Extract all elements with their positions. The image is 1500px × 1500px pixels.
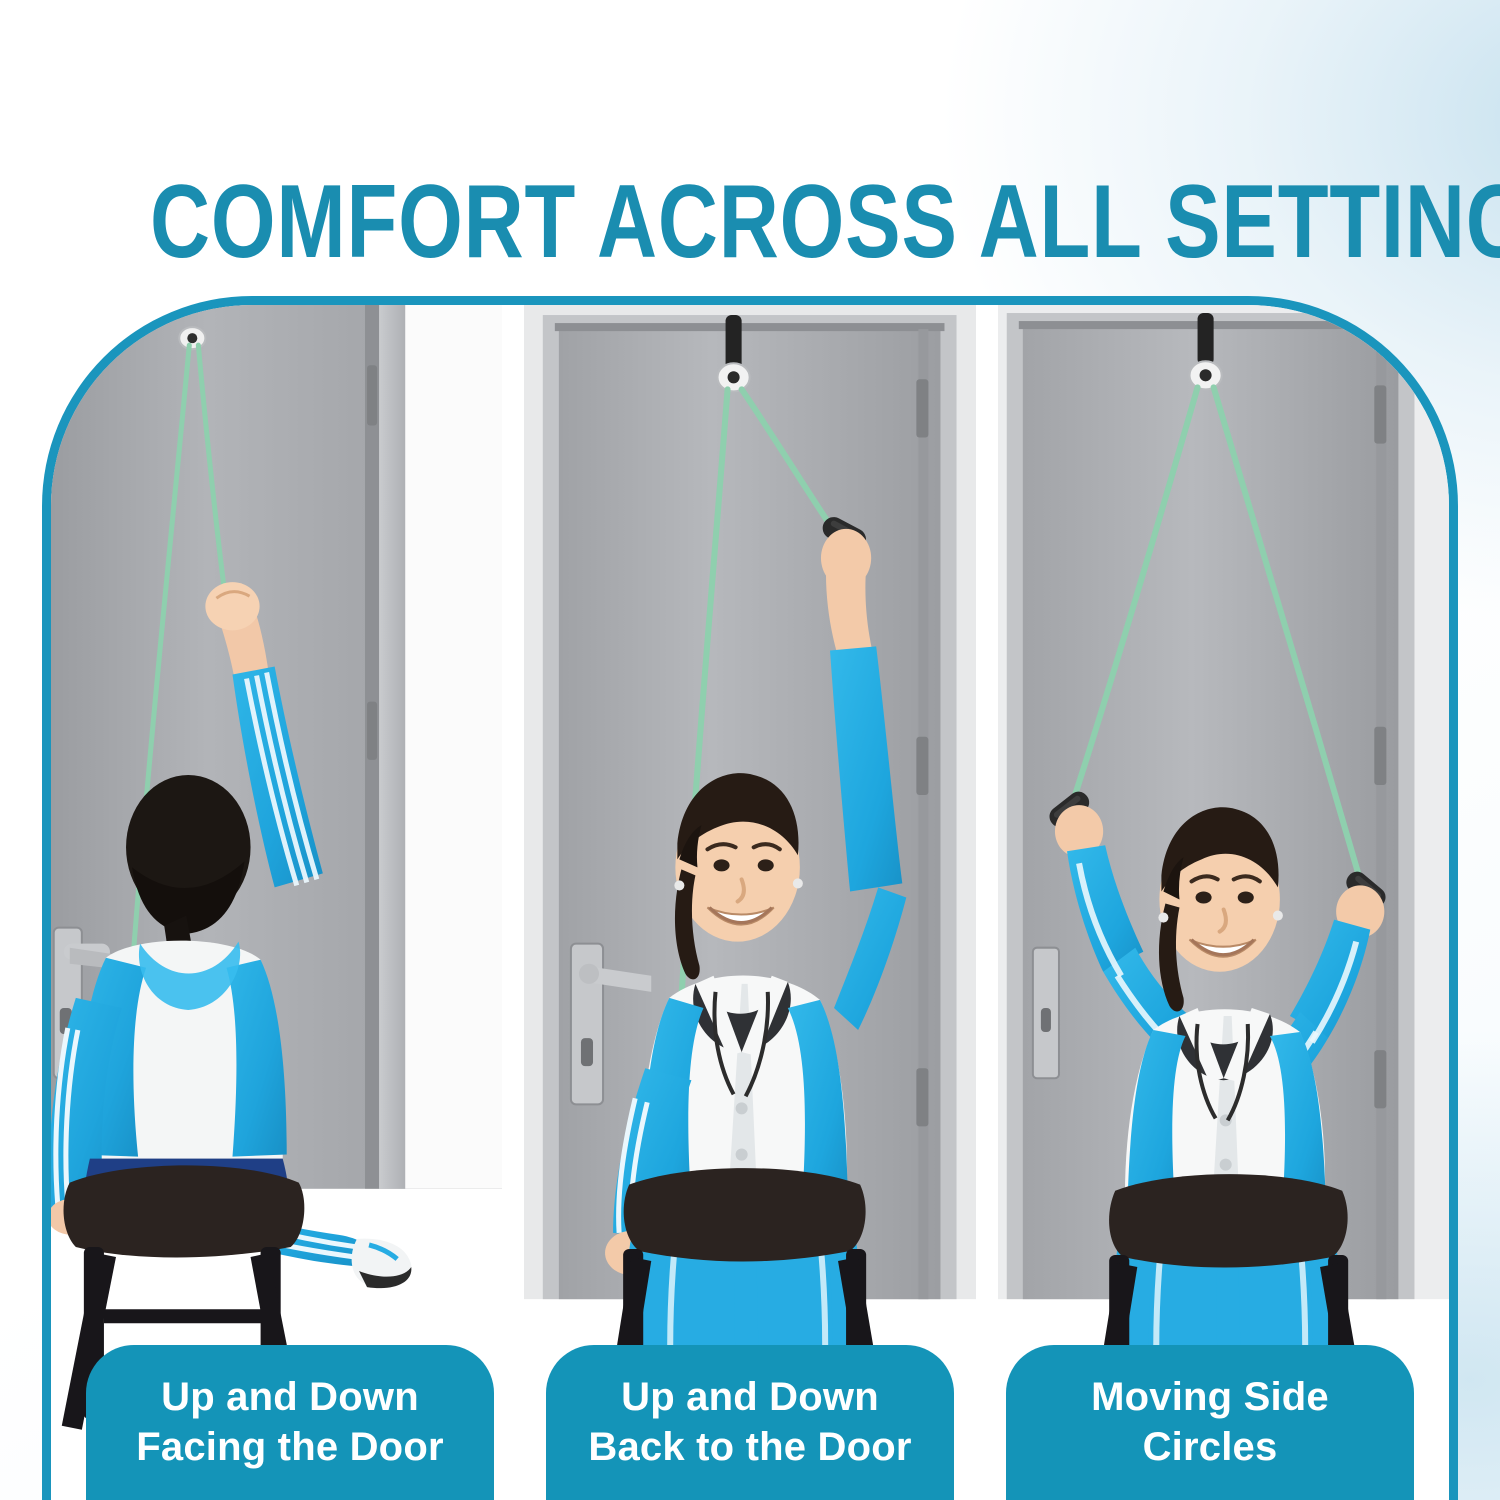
photo-panel-back-to-door <box>524 305 975 1500</box>
caption-badge-back-to-door: Up and Down Back to the Door <box>546 1345 954 1500</box>
caption-badge-row: Up and Down Facing the Door Up and Down … <box>42 1345 1458 1500</box>
illustration-back-to-door <box>524 305 975 1500</box>
caption-badge-facing-door: Up and Down Facing the Door <box>86 1345 494 1500</box>
panel-row <box>51 305 1449 1500</box>
illustration-side-circles <box>998 305 1449 1500</box>
illustration-facing-door <box>51 305 502 1500</box>
photo-frame <box>42 296 1458 1500</box>
caption-line-2: Circles <box>1143 1422 1278 1472</box>
photo-panel-side-circles <box>998 305 1449 1500</box>
caption-line-2: Facing the Door <box>136 1422 443 1472</box>
photo-panel-facing-door <box>51 305 502 1500</box>
caption-line-1: Up and Down <box>621 1372 879 1422</box>
caption-line-1: Moving Side <box>1091 1372 1329 1422</box>
caption-line-1: Up and Down <box>161 1372 419 1422</box>
caption-badge-side-circles: Moving Side Circles <box>1006 1345 1414 1500</box>
caption-line-2: Back to the Door <box>588 1422 911 1472</box>
page-title: COMFORT ACROSS ALL SETTINGS <box>150 168 1350 276</box>
